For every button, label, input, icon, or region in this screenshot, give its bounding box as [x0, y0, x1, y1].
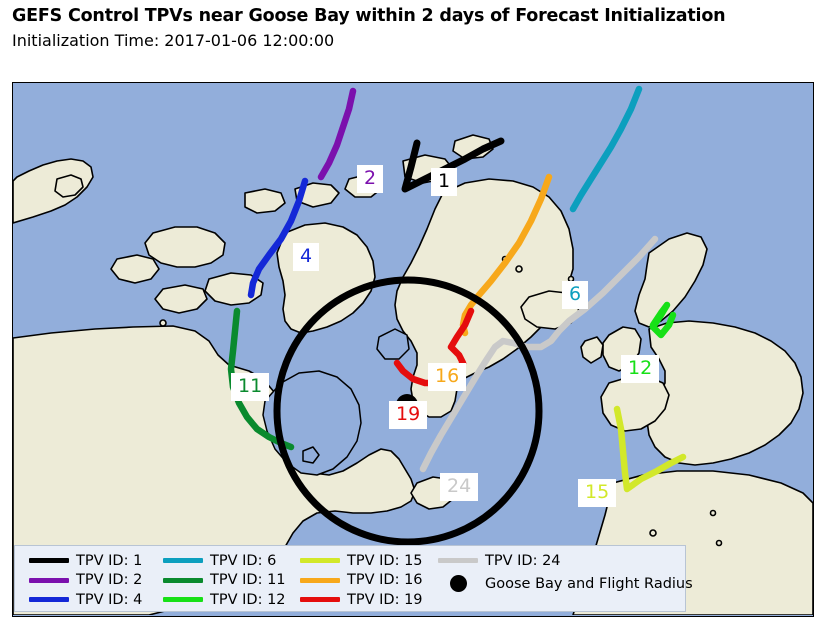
legend-label: TPV ID: 1	[76, 553, 142, 569]
legend-item: TPV ID: 12	[163, 590, 286, 610]
legend-line-swatch	[163, 578, 203, 583]
track-label-2: 2	[357, 165, 383, 193]
page-title: GEFS Control TPVs near Goose Bay within …	[12, 6, 822, 26]
legend-label: TPV ID: 15	[347, 553, 423, 569]
legend-label: TPV ID: 24	[485, 553, 561, 569]
legend-line-swatch	[29, 578, 69, 583]
legend-item: TPV ID: 6	[163, 551, 286, 571]
goose-bay-marker-icon	[438, 575, 478, 592]
legend-item: TPV ID: 16	[300, 571, 423, 591]
track-label-1: 1	[431, 168, 457, 196]
track-label-4: 4	[293, 243, 319, 271]
legend-line-swatch	[29, 597, 69, 602]
legend-label: TPV ID: 16	[347, 572, 423, 588]
legend-label: TPV ID: 11	[210, 572, 286, 588]
figure-root: GEFS Control TPVs near Goose Bay within …	[0, 0, 826, 629]
legend-line-swatch	[29, 558, 69, 563]
legend-line-swatch	[300, 578, 340, 583]
track-label-11: 11	[231, 373, 269, 401]
legend-line-swatch	[163, 558, 203, 563]
legend-label: TPV ID: 4	[76, 592, 142, 608]
land-speck-1	[516, 266, 522, 272]
legend-column-1: TPV ID: 1 TPV ID: 2 TPV ID: 4	[29, 551, 142, 610]
track-label-16: 16	[428, 363, 466, 391]
land-arctic-island-1	[145, 227, 225, 267]
track-label-6: 6	[562, 281, 588, 309]
track-label-12: 12	[621, 355, 659, 383]
legend-label: Goose Bay and Flight Radius	[485, 576, 693, 592]
legend-line-swatch	[300, 558, 340, 563]
legend: TPV ID: 1 TPV ID: 2 TPV ID: 4 TPV ID: 6 …	[14, 545, 686, 612]
legend-line-swatch	[163, 597, 203, 602]
land-arctic-island-3	[111, 255, 159, 283]
land-speck-5	[711, 511, 716, 516]
legend-item: TPV ID: 1	[29, 551, 142, 571]
legend-label: TPV ID: 6	[210, 553, 276, 569]
legend-item: TPV ID: 19	[300, 590, 423, 610]
land-speck-4	[650, 530, 656, 536]
legend-item: TPV ID: 24	[438, 551, 693, 571]
land-speck-6	[717, 541, 722, 546]
track-label-15: 15	[578, 479, 616, 507]
map-panel[interactable]: 1 2 4 6 11 12 15 16 19 24	[12, 82, 814, 617]
legend-line-swatch	[300, 597, 340, 602]
legend-item: TPV ID: 2	[29, 571, 142, 591]
legend-item: TPV ID: 11	[163, 571, 286, 591]
legend-column-3: TPV ID: 15 TPV ID: 16 TPV ID: 19	[300, 551, 423, 610]
legend-column-4: TPV ID: 24 Goose Bay and Flight Radius	[438, 551, 693, 597]
legend-item: TPV ID: 4	[29, 590, 142, 610]
legend-label: TPV ID: 12	[210, 592, 286, 608]
legend-line-swatch	[438, 558, 478, 563]
track-label-19: 19	[389, 401, 427, 429]
page-subtitle: Initialization Time: 2017-01-06 12:00:00	[12, 31, 334, 50]
track-label-24: 24	[440, 473, 478, 501]
land-speck-7	[160, 320, 166, 326]
legend-item: TPV ID: 15	[300, 551, 423, 571]
legend-column-2: TPV ID: 6 TPV ID: 11 TPV ID: 12	[163, 551, 286, 610]
legend-label: TPV ID: 2	[76, 572, 142, 588]
map-graphic	[13, 83, 813, 615]
legend-item-goose-bay: Goose Bay and Flight Radius	[438, 571, 693, 597]
legend-label: TPV ID: 19	[347, 592, 423, 608]
